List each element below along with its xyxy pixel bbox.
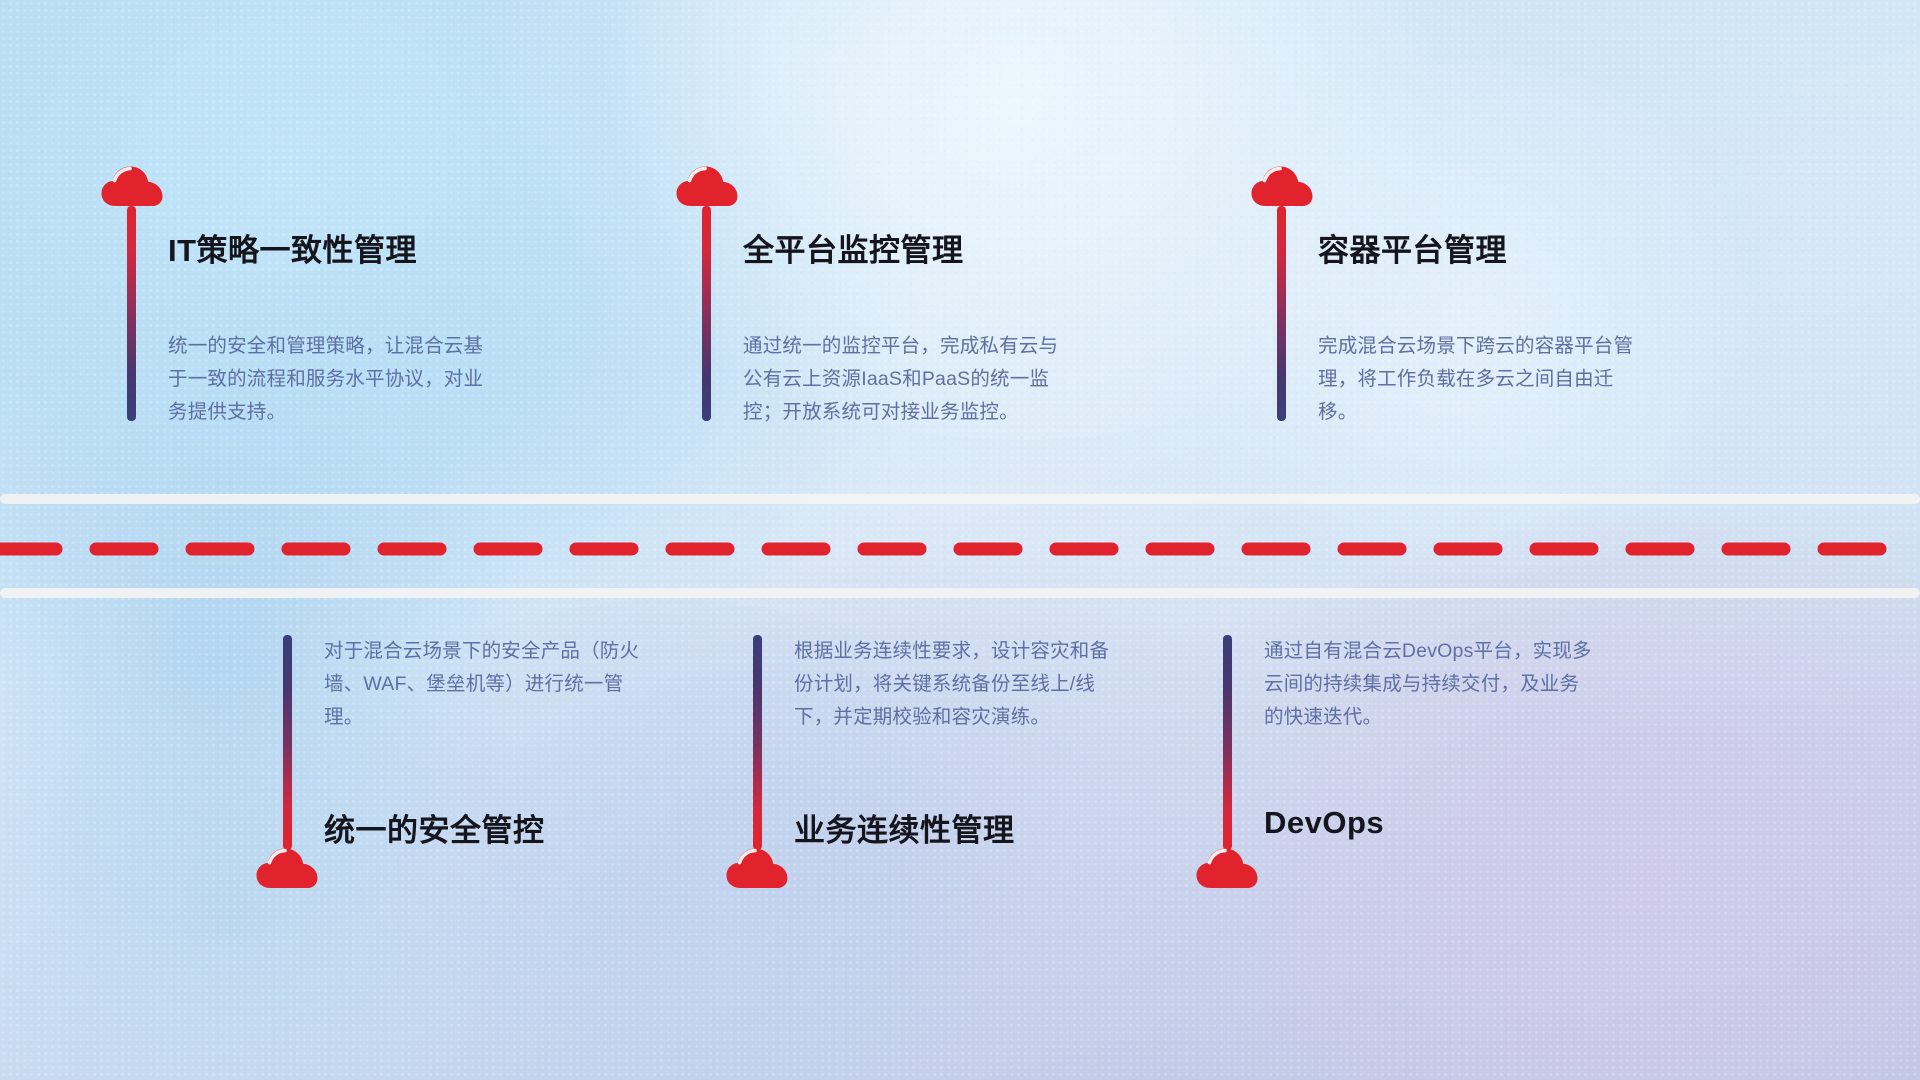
cloud-icon	[676, 165, 738, 209]
divider-line-upper	[0, 494, 1920, 504]
connector-stem	[127, 206, 136, 421]
cloud-stem-rail	[1250, 165, 1313, 421]
cloud-icon	[1251, 165, 1313, 209]
feature-description: 统一的安全和管理策略，让混合云基于一致的流程和服务水平协议，对业务提供支持。	[168, 330, 498, 429]
feature-title: 容器平台管理	[1318, 225, 1507, 270]
connector-stem	[283, 635, 292, 850]
cloud-icon	[256, 847, 318, 891]
feature-title: DevOps	[1264, 805, 1384, 841]
feature-description: 通过统一的监控平台，完成私有云与公有云上资源IaaS和PaaS的统一监控；开放系…	[743, 330, 1073, 429]
feature-title: IT策略一致性管理	[168, 225, 417, 270]
infographic-canvas: IT策略一致性管理 统一的安全和管理策略，让混合云基于一致的流程和服务水平协议，…	[0, 0, 1920, 1080]
cloud-icon	[726, 847, 788, 891]
feature-description: 对于混合云场景下的安全产品（防火墙、WAF、堡垒机等）进行统一管理。	[324, 635, 654, 734]
connector-stem	[753, 635, 762, 850]
connector-stem	[702, 206, 711, 421]
feature-title: 统一的安全管控	[324, 805, 545, 850]
connector-stem	[1277, 206, 1286, 421]
feature-description: 根据业务连续性要求，设计容灾和备份计划，将关键系统备份至线上/线下，并定期校验和…	[794, 635, 1124, 734]
divider-line-lower	[0, 588, 1920, 598]
feature-description: 完成混合云场景下跨云的容器平台管理，将工作负载在多云之间自由迁移。	[1318, 330, 1648, 429]
connector-stem	[1223, 635, 1232, 850]
feature-title: 业务连续性管理	[794, 805, 1015, 850]
cloud-stem-rail	[256, 635, 318, 891]
background-texture	[0, 0, 1920, 1080]
cloud-stem-rail	[1196, 635, 1258, 891]
cloud-icon	[101, 165, 163, 209]
cloud-stem-rail	[100, 165, 163, 421]
feature-title: 全平台监控管理	[743, 225, 964, 270]
cloud-stem-rail	[726, 635, 788, 891]
feature-description: 通过自有混合云DevOps平台，实现多云间的持续集成与持续交付，及业务的快速迭代…	[1264, 635, 1594, 734]
cloud-stem-rail	[675, 165, 738, 421]
cloud-icon	[1196, 847, 1258, 891]
dashed-divider-line	[0, 542, 1920, 556]
